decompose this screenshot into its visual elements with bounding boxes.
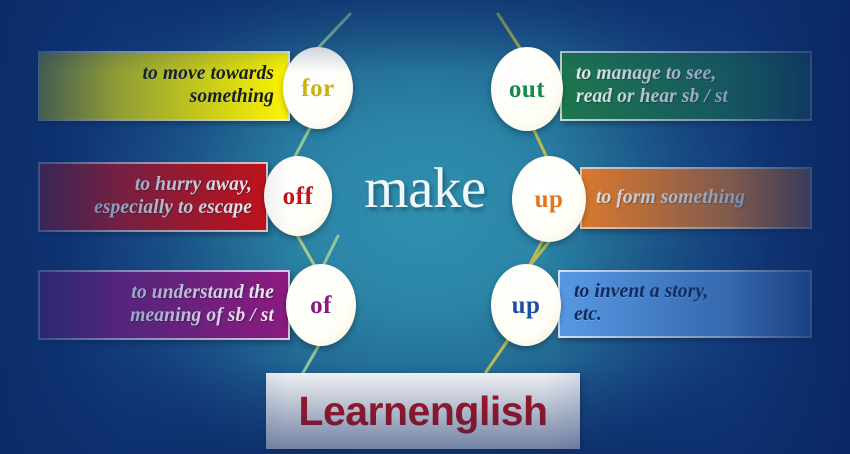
definition-line: to understand the bbox=[54, 282, 274, 305]
definition-line: to hurry away, bbox=[54, 174, 252, 197]
definition-text-up-form: to form something bbox=[596, 187, 796, 210]
definition-line: etc. bbox=[574, 304, 796, 327]
headword-make: make bbox=[335, 160, 515, 217]
connector-of-top bbox=[322, 236, 338, 268]
connector-up-blue-top bbox=[528, 238, 552, 268]
brand-banner[interactable]: Learnenglish bbox=[266, 373, 580, 449]
definition-box-off[interactable]: to hurry away, especially to escape bbox=[38, 162, 268, 232]
definition-text-of: to understand the meaning of sb / st bbox=[54, 282, 274, 327]
definition-line: to manage to see, bbox=[576, 63, 796, 86]
definition-line: especially to escape bbox=[54, 197, 252, 220]
definition-box-out[interactable]: to manage to see, read or hear sb / st bbox=[560, 51, 812, 121]
definition-text-for: to move towards something bbox=[54, 63, 274, 108]
particle-label-up-form: up bbox=[535, 187, 564, 212]
particle-label-for: for bbox=[301, 76, 334, 101]
particle-bubble-up-form[interactable]: up bbox=[512, 156, 586, 242]
particle-label-off: off bbox=[283, 184, 314, 209]
connector-out-top bbox=[498, 14, 520, 48]
definition-text-up-invent: to invent a story, etc. bbox=[574, 281, 796, 326]
definition-line: read or hear sb / st bbox=[576, 86, 796, 109]
particle-bubble-out[interactable]: out bbox=[491, 47, 563, 131]
particle-bubble-off[interactable]: off bbox=[264, 156, 332, 236]
particle-label-up-invent: up bbox=[512, 293, 541, 318]
particle-bubble-for[interactable]: for bbox=[283, 47, 353, 129]
definition-box-up-form[interactable]: to form something bbox=[580, 167, 812, 229]
definition-text-off: to hurry away, especially to escape bbox=[54, 174, 252, 219]
definition-box-of[interactable]: to understand the meaning of sb / st bbox=[38, 270, 290, 340]
definition-line: something bbox=[54, 86, 274, 109]
definition-line: meaning of sb / st bbox=[54, 305, 274, 328]
definition-box-up-invent[interactable]: to invent a story, etc. bbox=[558, 270, 812, 338]
definition-line: to move towards bbox=[54, 63, 274, 86]
connector-for-top bbox=[318, 14, 350, 48]
brand-banner-text: Learnenglish bbox=[298, 391, 547, 432]
phrasal-verb-infographic: to move towards something for to hurry a… bbox=[0, 0, 850, 454]
connector-off-of bbox=[297, 235, 316, 268]
definition-box-for[interactable]: to move towards something bbox=[38, 51, 290, 121]
particle-bubble-up-invent[interactable]: up bbox=[491, 264, 561, 346]
connector-up-bottom bbox=[486, 340, 508, 372]
particle-label-of: of bbox=[310, 293, 332, 318]
definition-text-out: to manage to see, read or hear sb / st bbox=[576, 63, 796, 108]
definition-line: to form something bbox=[596, 187, 796, 210]
definition-line: to invent a story, bbox=[574, 281, 796, 304]
particle-label-out: out bbox=[509, 77, 545, 102]
particle-bubble-of[interactable]: of bbox=[286, 264, 356, 346]
